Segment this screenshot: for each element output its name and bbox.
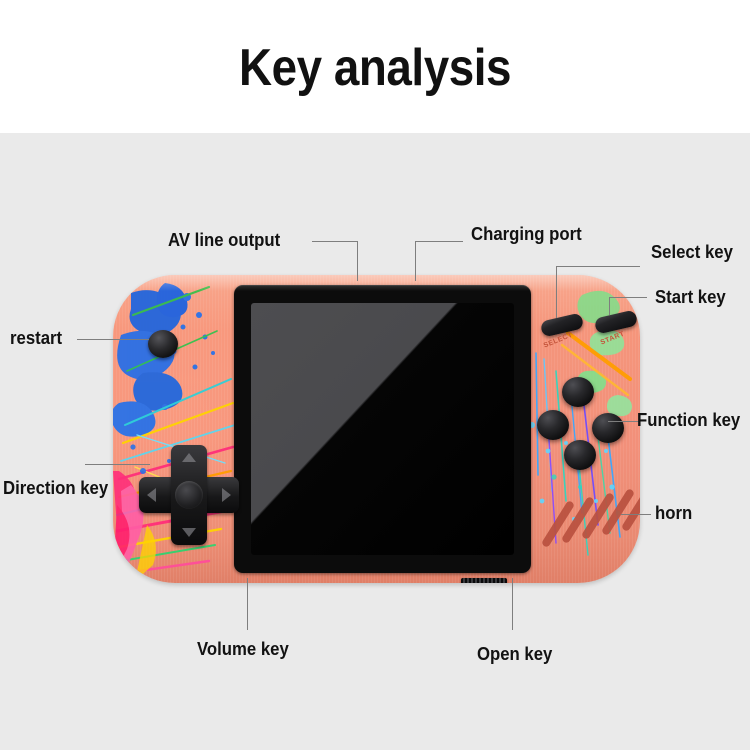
dpad-up-arrow-icon[interactable] [182, 453, 196, 462]
leader-restart [77, 339, 149, 340]
handheld-game-console: SELECT START [113, 275, 640, 583]
leader-select-key-horizontal [556, 266, 640, 267]
leader-select-key-vertical [556, 266, 557, 318]
page-title: Key analysis [45, 38, 705, 98]
dpad-down-arrow-icon[interactable] [182, 528, 196, 537]
leader-open-key [512, 578, 513, 630]
callout-av-line-output: AV line output [168, 230, 280, 251]
select-key-button[interactable] [540, 312, 585, 337]
lcd-screen-bezel [234, 285, 531, 573]
leader-start-key-horizontal [609, 297, 647, 298]
leader-start-key-vertical [609, 297, 610, 315]
open-key-switch[interactable] [461, 578, 507, 583]
function-button-left[interactable] [537, 410, 569, 440]
function-button-right[interactable] [592, 413, 624, 443]
start-key-button[interactable] [594, 309, 639, 334]
callout-direction-key: Direction key [3, 478, 108, 499]
callout-restart: restart [10, 328, 62, 349]
leader-function-key [608, 421, 640, 422]
lcd-screen-panel [251, 303, 514, 555]
callout-volume-key: Volume key [197, 639, 289, 660]
leader-av-line-horizontal [312, 241, 358, 242]
leader-av-line-vertical [357, 241, 358, 281]
callout-select-key: Select key [651, 242, 733, 263]
leader-volume-key [247, 578, 248, 630]
callout-start-key: Start key [655, 287, 726, 308]
dpad-left-arrow-icon[interactable] [147, 488, 156, 502]
callout-function-key: Function key [637, 410, 740, 431]
dpad-right-arrow-icon[interactable] [222, 488, 231, 502]
leader-direction-key [85, 464, 150, 465]
horn-speaker-grille [550, 490, 640, 552]
leader-charging-port-horizontal [415, 241, 463, 242]
function-button-top[interactable] [562, 377, 594, 407]
callout-charging-port: Charging port [471, 224, 582, 245]
dpad-center-hub [175, 481, 203, 509]
leader-charging-port-vertical [415, 241, 416, 281]
screenshot-stage: Key analysis [0, 0, 750, 750]
leader-horn [621, 514, 651, 515]
function-button-bottom[interactable] [564, 440, 596, 470]
direction-pad[interactable] [139, 445, 239, 545]
callout-open-key: Open key [477, 644, 552, 665]
callout-horn: horn [655, 503, 692, 524]
restart-button[interactable] [148, 330, 178, 358]
